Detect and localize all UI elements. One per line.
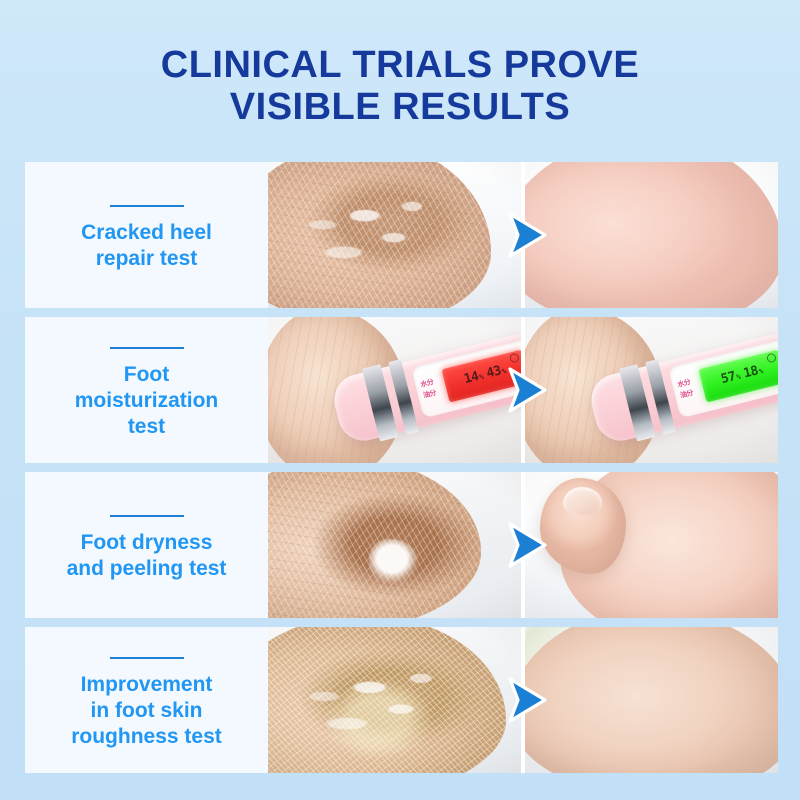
before-image-rough-heel (268, 627, 525, 773)
heel-after-shape (525, 162, 778, 308)
after-image-cracked-heel (525, 162, 778, 308)
after-image-pinched-heel (525, 472, 778, 618)
after-image-moisture-meter: 水分 油分 57% 18% (525, 317, 778, 463)
smiley-face-icon (508, 352, 519, 363)
row-label-cell: Improvement in foot skin roughness test (25, 627, 268, 773)
meter-oil-value: 43 (485, 365, 502, 381)
row-label-cell: Foot moisturization test (25, 317, 268, 463)
comparison-row-dryness-peeling: Foot dryness and peeling test (25, 472, 778, 618)
meter-label-oil: 油分 (679, 387, 704, 401)
page-title-line-2: VISIBLE RESULTS (0, 86, 800, 128)
heel-after-shape (525, 627, 778, 773)
page-title-line-1: CLINICAL TRIALS PROVE (0, 44, 800, 86)
after-image-smooth-heel (525, 627, 778, 773)
before-image-moisture-meter: 水分 油分 14% 43% (268, 317, 525, 463)
row-label-text: Cracked heel repair test (81, 220, 212, 272)
row-label-text: Improvement in foot skin roughness test (71, 672, 222, 750)
row-label-cell: Cracked heel repair test (25, 162, 268, 308)
label-divider-rule (110, 347, 184, 349)
label-divider-rule (110, 205, 184, 207)
meter-moisture-value: 14 (463, 370, 480, 386)
heel-before-shape (268, 162, 491, 308)
infographic-page: CLINICAL TRIALS PROVE VISIBLE RESULTS Cr… (0, 0, 800, 800)
thumbnail-shape (563, 487, 603, 516)
comparison-row-roughness: Improvement in foot skin roughness test (25, 627, 778, 773)
meter-lcd-after: 57% 18% (698, 349, 778, 402)
meter-moisture-value: 57 (720, 370, 737, 386)
page-title: CLINICAL TRIALS PROVE VISIBLE RESULTS (0, 44, 800, 128)
comparison-row-cracked-heel: Cracked heel repair test (25, 162, 778, 308)
smiley-face-icon (765, 352, 776, 363)
row-label-text: Foot dryness and peeling test (67, 530, 227, 582)
meter-label-oil: 油分 (422, 387, 447, 401)
label-divider-rule (110, 515, 184, 517)
comparison-row-moisturization: Foot moisturization test 水分 油分 (25, 317, 778, 463)
row-label-text: Foot moisturization test (75, 362, 219, 440)
peeling-skin-flap (369, 539, 420, 589)
row-label-cell: Foot dryness and peeling test (25, 472, 268, 618)
label-divider-rule (110, 657, 184, 659)
before-image-peeling-heel (268, 472, 525, 618)
before-image-cracked-heel (268, 162, 525, 308)
meter-lcd-before: 14% 43% (441, 349, 525, 402)
meter-oil-value: 18 (742, 365, 759, 381)
comparison-rows: Cracked heel repair test (25, 162, 778, 773)
